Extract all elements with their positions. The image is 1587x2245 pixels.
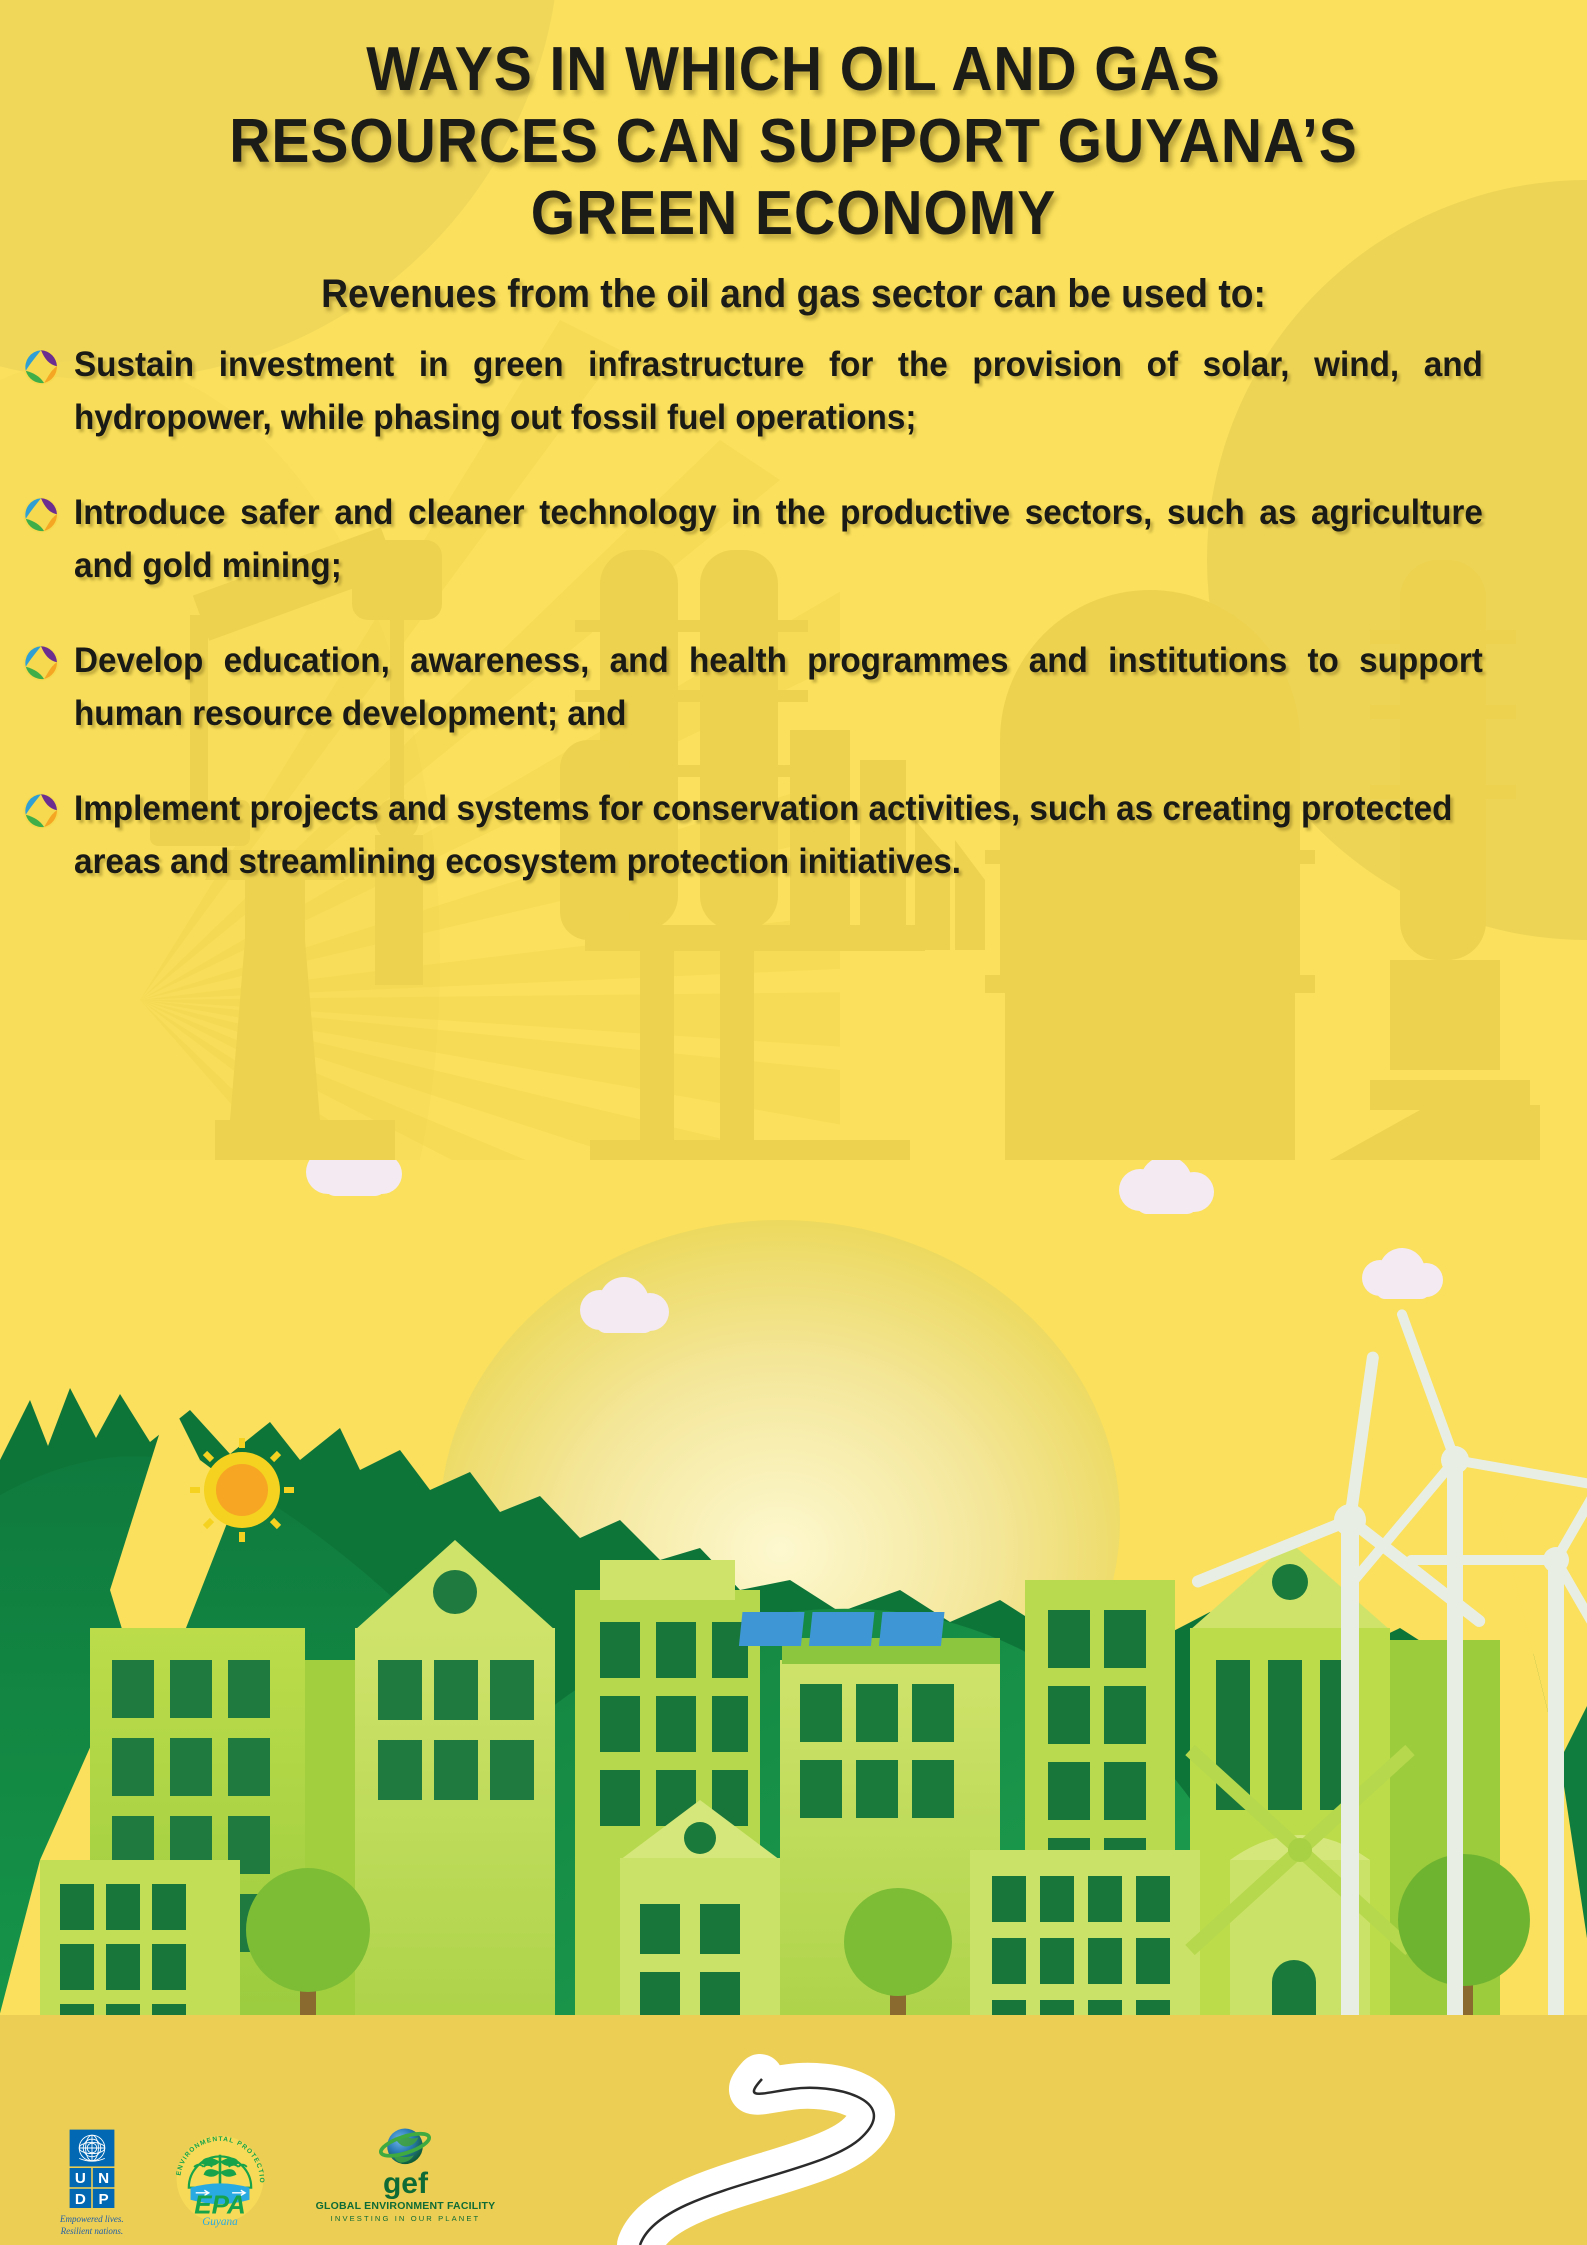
list-item: Implement projects and systems for conse… (22, 782, 1557, 888)
list-item: Introduce safer and cleaner technology i… (22, 486, 1557, 592)
undp-tagline-line1: Empowered lives. (60, 2214, 124, 2224)
green-city-landscape-illustration (0, 1160, 1587, 2090)
bullet-list: Sustain investment in green infrastructu… (22, 338, 1557, 920)
gef-wordmark: gef (383, 2170, 428, 2198)
svg-text:P: P (98, 2191, 108, 2208)
list-item-label: Introduce safer and cleaner technology i… (74, 486, 1483, 592)
list-item-label: Develop education, awareness, and health… (74, 634, 1483, 740)
colorful-swirl-bullet-icon (22, 792, 60, 830)
colorful-swirl-bullet-icon (22, 644, 60, 682)
svg-text:N: N (98, 2170, 109, 2187)
svg-text:D: D (75, 2191, 86, 2208)
partner-logos: U N D P Empowered lives. Resilient natio… (60, 2124, 495, 2237)
list-item-label: Sustain investment in green infrastructu… (74, 338, 1483, 444)
united-nations-emblem (79, 2135, 105, 2161)
title-line-1: Ways in which Oil and Gas (63, 34, 1523, 106)
title-line-2: Resources can support Guyana’s (63, 106, 1523, 178)
gef-logo: gef GLOBAL ENVIRONMENT FACILITY INVESTIN… (316, 2124, 496, 2223)
poster-canvas: Ways in which Oil and Gas Resources can … (0, 0, 1587, 2245)
title-line-3: Green Economy (63, 178, 1523, 250)
list-item-label: Implement projects and systems for conse… (74, 782, 1483, 888)
undp-tagline-line2: Resilient nations. (61, 2226, 124, 2236)
colorful-swirl-bullet-icon (22, 496, 60, 534)
list-item: Sustain investment in green infrastructu… (22, 338, 1557, 444)
gef-tagline: INVESTING IN OUR PLANET (331, 2214, 481, 2223)
undp-mark: U N D P (64, 2128, 120, 2208)
epa-guyana-mark: ENVIRONMENTAL PROTECTION AGENCY, GUYANA (168, 2127, 272, 2231)
undp-logo: U N D P Empowered lives. Resilient natio… (60, 2128, 124, 2237)
svg-text:U: U (75, 2170, 86, 2187)
poster-subtitle: Revenues from the oil and gas sector can… (56, 272, 1532, 317)
undp-tagline: Empowered lives. Resilient nations. (60, 2213, 124, 2237)
gef-title: GLOBAL ENVIRONMENT FACILITY (316, 2200, 496, 2212)
poster-title: Ways in which Oil and Gas Resources can … (0, 34, 1587, 250)
small-sun-icon (190, 1438, 294, 1542)
epa-guyana-logo: ENVIRONMENTAL PROTECTION AGENCY, GUYANA (168, 2127, 272, 2231)
colorful-swirl-bullet-icon (22, 348, 60, 386)
svg-text:Guyana: Guyana (202, 2216, 238, 2228)
list-item: Develop education, awareness, and health… (22, 634, 1557, 740)
building-gabled-house (355, 1540, 555, 2080)
